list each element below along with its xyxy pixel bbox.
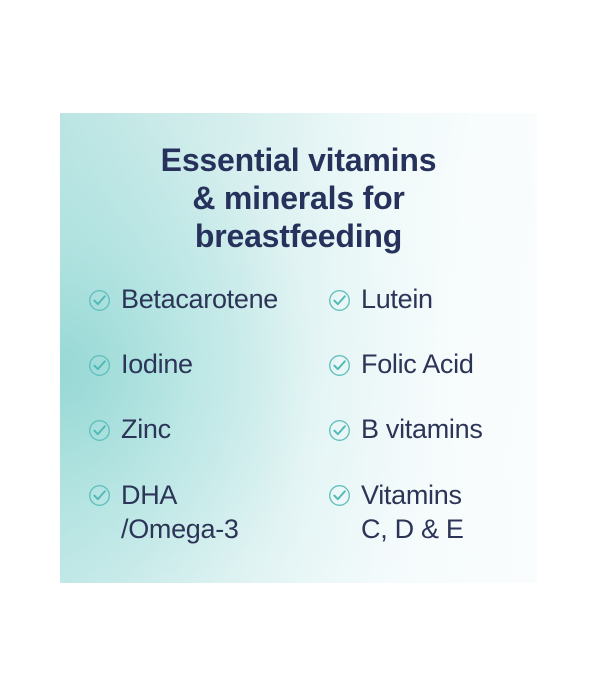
check-circle-icon xyxy=(328,419,351,442)
list-item-label: Lutein xyxy=(361,283,433,316)
check-circle-icon xyxy=(88,289,111,312)
check-circle-icon xyxy=(328,484,351,507)
check-circle-icon xyxy=(328,289,351,312)
list-item: B vitamins xyxy=(328,413,537,478)
page-title-line-2: & minerals for xyxy=(60,179,537,217)
nutrient-list: Betacarotene Lutein xyxy=(88,283,537,543)
check-circle-icon xyxy=(88,354,111,377)
product-benefits-graphic: Essential vitamins & minerals for breast… xyxy=(0,0,600,700)
list-item: Iodine xyxy=(88,348,328,413)
list-item-label: Betacarotene xyxy=(121,283,278,316)
list-item-label: DHA /Omega-3 xyxy=(121,478,239,546)
info-panel: Essential vitamins & minerals for breast… xyxy=(60,113,537,583)
check-circle-icon xyxy=(88,484,111,507)
list-item-label: Zinc xyxy=(121,413,171,446)
list-item: Folic Acid xyxy=(328,348,537,413)
check-circle-icon xyxy=(88,419,111,442)
list-item: Vitamins C, D & E xyxy=(328,478,537,543)
page-title-line-3: breastfeeding xyxy=(60,217,537,255)
list-item-label: Vitamins C, D & E xyxy=(361,478,464,546)
list-item-label: Folic Acid xyxy=(361,348,474,381)
list-item-label: Iodine xyxy=(121,348,193,381)
list-item: Betacarotene xyxy=(88,283,328,348)
check-circle-icon xyxy=(328,354,351,377)
list-item: Lutein xyxy=(328,283,537,348)
list-item: Zinc xyxy=(88,413,328,478)
page-title-line-1: Essential vitamins xyxy=(60,141,537,179)
list-item-label: B vitamins xyxy=(361,413,483,446)
list-item: DHA /Omega-3 xyxy=(88,478,328,543)
page-title: Essential vitamins & minerals for breast… xyxy=(60,141,537,255)
